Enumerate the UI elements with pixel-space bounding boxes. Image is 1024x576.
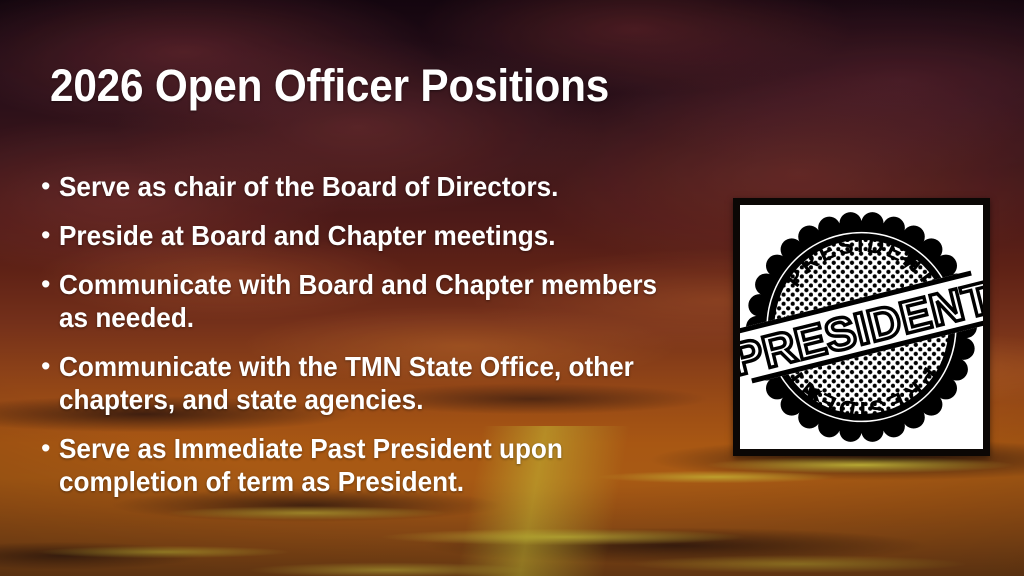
list-item-text: Serve as chair of the Board of Directors… (59, 170, 669, 203)
bullet-marker-icon: • (41, 268, 59, 301)
list-item-text: Preside at Board and Chapter meetings. (59, 219, 669, 252)
list-item: • Communicate with Board and Chapter mem… (41, 268, 701, 334)
list-item: • Communicate with the TMN State Office,… (41, 350, 701, 416)
bullet-list: • Serve as chair of the Board of Directo… (41, 170, 701, 514)
list-item: • Serve as chair of the Board of Directo… (41, 170, 701, 203)
bullet-marker-icon: • (41, 432, 59, 465)
slide: 2026 Open Officer Positions • Serve as c… (0, 0, 1024, 576)
list-item-text: Serve as Immediate Past President upon c… (59, 432, 669, 498)
stamp-canvas: PRESIDENT PRESIDENT (740, 205, 983, 449)
list-item: • Preside at Board and Chapter meetings. (41, 219, 701, 252)
bullet-marker-icon: • (41, 350, 59, 383)
page-title: 2026 Open Officer Positions (50, 60, 609, 112)
list-item: • Serve as Immediate Past President upon… (41, 432, 701, 498)
bullet-marker-icon: • (41, 219, 59, 252)
list-item-text: Communicate with Board and Chapter membe… (59, 268, 669, 334)
bullet-marker-icon: • (41, 170, 59, 203)
list-item-text: Communicate with the TMN State Office, o… (59, 350, 669, 416)
president-stamp-graphic: PRESIDENT PRESIDENT (740, 205, 983, 449)
president-stamp-image: PRESIDENT PRESIDENT (733, 198, 990, 456)
